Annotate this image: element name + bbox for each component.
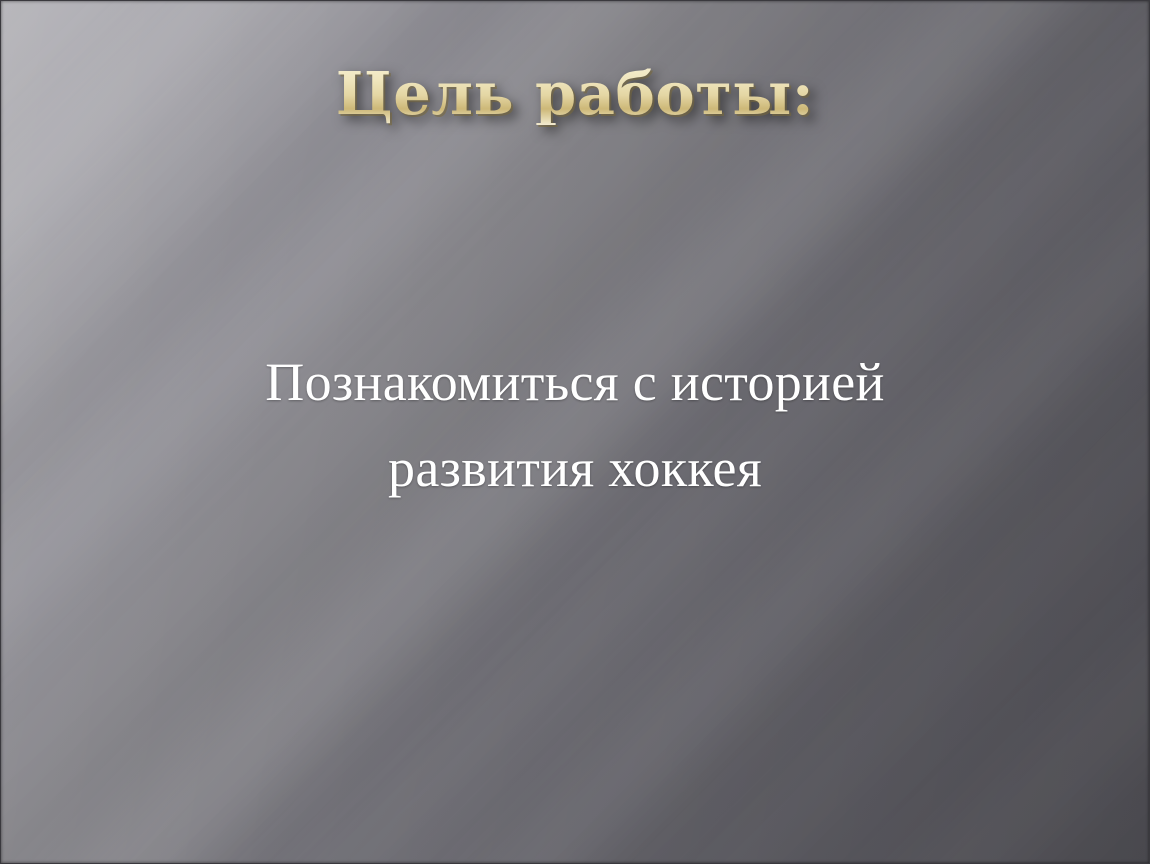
body-line: Познакомиться с историей (135, 339, 1015, 425)
presentation-slide: Цель работы: Познакомиться с историей ра… (0, 0, 1150, 864)
slide-title-container: Цель работы: (1, 63, 1149, 125)
slide-title: Цель работы: (336, 63, 814, 125)
body-line: развития хоккея (135, 425, 1015, 511)
slide-body-container: Познакомиться с историей развития хоккея (135, 339, 1015, 511)
